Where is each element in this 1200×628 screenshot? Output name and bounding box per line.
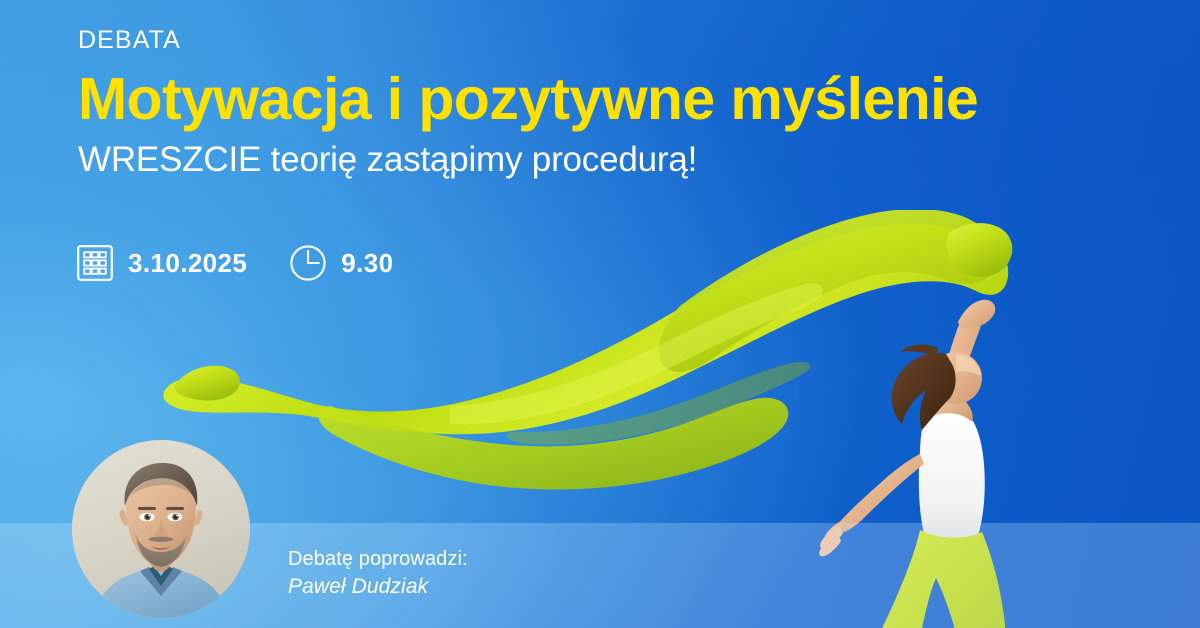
presenter-credit: Debatę poprowadzi: Paweł Dudziak (288, 546, 468, 601)
headline-block: DEBATA Motywacja i pozytywne myślenie WR… (78, 28, 1138, 180)
calendar-icon (76, 244, 114, 282)
page-subtitle: WRESZCIE teorię zastąpimy procedurą! (78, 141, 1138, 180)
avatar (72, 440, 250, 618)
event-time: 9.30 (341, 250, 393, 276)
event-banner: DEBATA Motywacja i pozytywne myślenie WR… (0, 0, 1200, 628)
event-meta-row: 3.10.2025 9.30 (76, 244, 394, 282)
page-title: Motywacja i pozytywne myślenie (78, 69, 1138, 129)
presenter-name: Paweł Dudziak (288, 573, 468, 601)
presenter-label: Debatę poprowadzi: (288, 546, 468, 573)
event-date: 3.10.2025 (128, 250, 247, 276)
eyebrow-label: DEBATA (78, 28, 1138, 53)
clock-icon (289, 244, 327, 282)
